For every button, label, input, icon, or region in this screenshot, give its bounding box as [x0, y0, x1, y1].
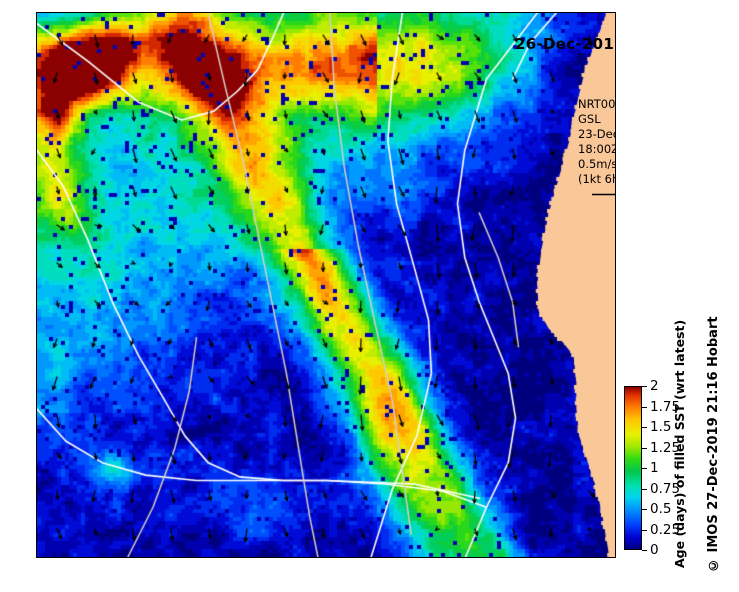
- colorbar-tick-label: 0.5: [650, 501, 671, 517]
- credit-text: © IMOS 27-Dec-2019 21:16 Hobart: [706, 336, 721, 572]
- current-product-label: NRT00 GSL: [578, 97, 616, 127]
- right-arrow-icon: [592, 190, 616, 199]
- colorbar-tick: [642, 509, 647, 510]
- current-scale-label: 0.5m/s (1kt 6h): [578, 157, 616, 187]
- colorbar-tick-label: 2: [650, 378, 659, 394]
- sst-age-heatmap-canvas[interactable]: [37, 13, 616, 558]
- colorbar-tick: [642, 427, 647, 428]
- y-tick: [36, 427, 37, 428]
- colorbar-tick-label: 1.5: [650, 419, 671, 435]
- current-valid-time-label: 23-Dec 18:00Z: [578, 127, 616, 157]
- colorbar-tick-label: 1: [650, 460, 659, 476]
- colorbar-tick: [642, 448, 647, 449]
- y-tick: [36, 249, 37, 250]
- colorbar-tick: [642, 386, 647, 387]
- y-tick: [36, 159, 37, 160]
- colorbar-axis-title: Age (days) of filled SST (wrt latest): [672, 372, 687, 568]
- sst-age-figure: 26-Dec-2019 00Z 200m 1000m NRT00 GSL 23-…: [0, 0, 739, 592]
- y-tick: [36, 516, 37, 517]
- y-tick: [36, 338, 37, 339]
- colorbar-tick: [642, 530, 647, 531]
- colorbar-tick-label: 0: [650, 542, 659, 558]
- map-title-date: 26-Dec-2019 00Z: [515, 35, 616, 53]
- current-scale-arrow: [592, 190, 616, 199]
- colorbar-tick: [642, 489, 647, 490]
- colorbar-tick: [642, 468, 647, 469]
- map-plot-area[interactable]: 26-Dec-2019 00Z 200m 1000m NRT00 GSL 23-…: [36, 12, 616, 558]
- colorbar[interactable]: [624, 386, 642, 550]
- y-tick: [36, 70, 37, 71]
- colorbar-tick: [642, 550, 647, 551]
- colorbar-tick: [642, 407, 647, 408]
- current-vector-legend: NRT00 GSL 23-Dec 18:00Z 0.5m/s (1kt 6h): [578, 97, 616, 199]
